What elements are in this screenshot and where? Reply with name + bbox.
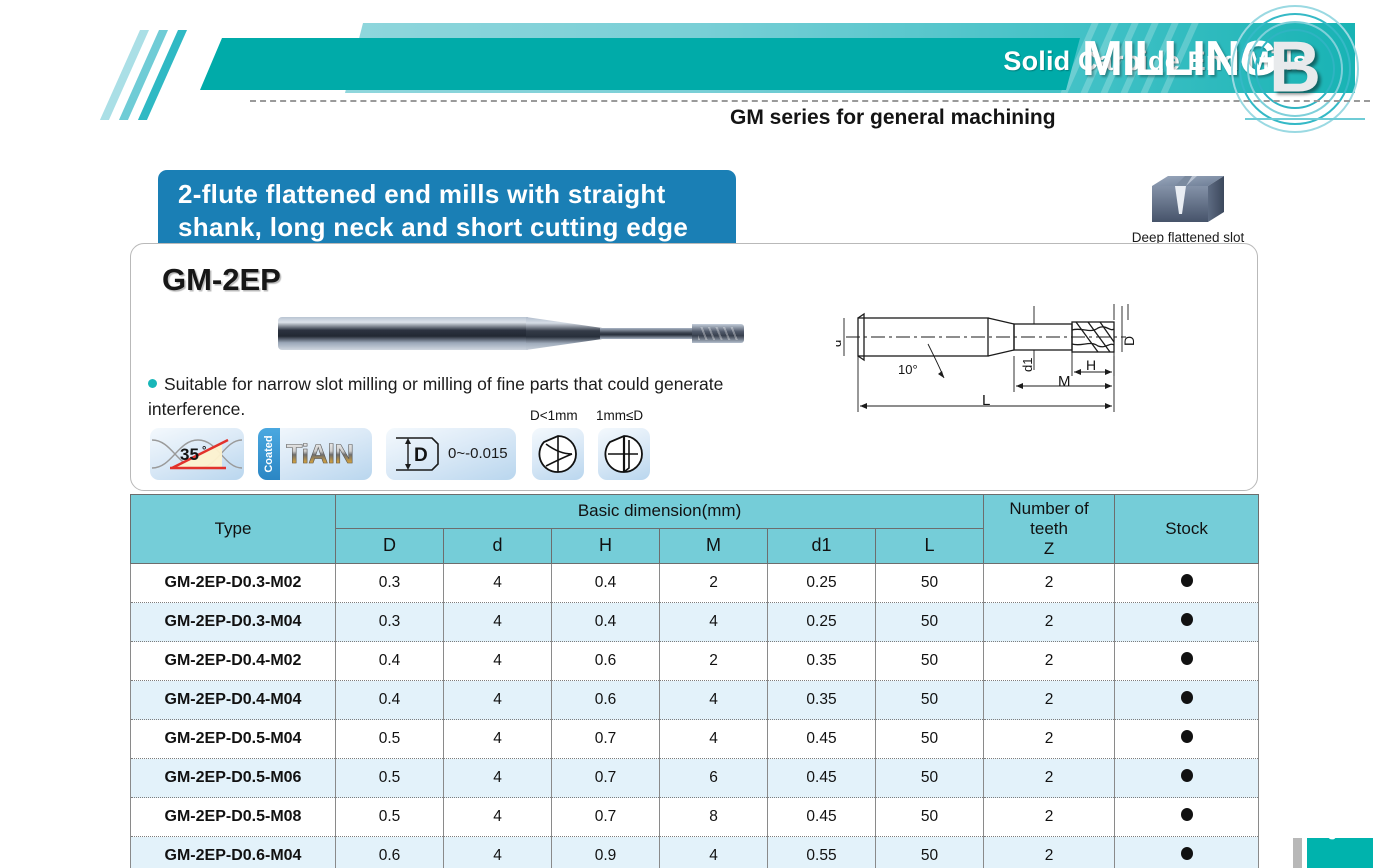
cell-L: 50 bbox=[876, 798, 984, 837]
cell-M: 2 bbox=[660, 564, 768, 603]
col-header-M: M bbox=[660, 528, 768, 563]
cell-type: GM-2EP-D0.5-M08 bbox=[131, 798, 336, 837]
coating-name: TiAlN bbox=[286, 436, 354, 472]
table-body: GM-2EP-D0.3-M020.340.420.25502GM-2EP-D0.… bbox=[131, 564, 1259, 868]
cell-L: 50 bbox=[876, 564, 984, 603]
header-subtitle-underline bbox=[1245, 118, 1365, 120]
cell-M: 4 bbox=[660, 720, 768, 759]
product-description: Suitable for narrow slot milling or mill… bbox=[148, 372, 748, 422]
cell-d1: 0.45 bbox=[768, 720, 876, 759]
series-code: GM-2EP bbox=[162, 262, 281, 298]
cell-stock bbox=[1115, 837, 1259, 868]
tolerance-value: 0~-0.015 bbox=[448, 445, 508, 462]
banner-main-band bbox=[200, 38, 1080, 90]
cell-H: 0.7 bbox=[552, 720, 660, 759]
cell-stock bbox=[1115, 681, 1259, 720]
table-row: GM-2EP-D0.4-M020.440.620.35502 bbox=[131, 642, 1259, 681]
cell-d1: 0.35 bbox=[768, 681, 876, 720]
cell-D: 0.3 bbox=[336, 603, 444, 642]
header-subtitle: GM series for general machining bbox=[730, 106, 1056, 130]
cell-teeth: 2 bbox=[984, 720, 1115, 759]
label-shank-dia: d bbox=[836, 340, 844, 347]
cross-section-large-label: 1mm≤D bbox=[596, 408, 643, 423]
col-header-teeth-line2: teeth bbox=[986, 519, 1112, 539]
col-header-d: d bbox=[444, 528, 552, 563]
technical-drawing: d 10° d1 M H D L bbox=[836, 286, 1236, 426]
cell-M: 6 bbox=[660, 759, 768, 798]
table-row: GM-2EP-D0.5-M080.540.780.45502 bbox=[131, 798, 1259, 837]
cell-teeth: 2 bbox=[984, 564, 1115, 603]
cell-d: 4 bbox=[444, 720, 552, 759]
cell-H: 0.9 bbox=[552, 837, 660, 868]
cell-d: 4 bbox=[444, 681, 552, 720]
cell-D: 0.5 bbox=[336, 720, 444, 759]
coated-tab: Coated bbox=[258, 428, 280, 480]
cell-teeth: 2 bbox=[984, 837, 1115, 868]
cell-stock bbox=[1115, 642, 1259, 681]
col-header-H: H bbox=[552, 528, 660, 563]
section-letter: B bbox=[1269, 32, 1321, 104]
cell-M: 8 bbox=[660, 798, 768, 837]
cell-type: GM-2EP-D0.3-M02 bbox=[131, 564, 336, 603]
cell-M: 4 bbox=[660, 603, 768, 642]
section-letter-badge: B bbox=[1228, 2, 1362, 136]
cell-type: GM-2EP-D0.5-M06 bbox=[131, 759, 336, 798]
cell-d: 4 bbox=[444, 603, 552, 642]
cell-D: 0.6 bbox=[336, 837, 444, 868]
col-header-L: L bbox=[876, 528, 984, 563]
label-taper-angle: 10° bbox=[898, 362, 918, 377]
cell-type: GM-2EP-D0.4-M04 bbox=[131, 681, 336, 720]
cell-H: 0.7 bbox=[552, 798, 660, 837]
product-photo-flute-head bbox=[692, 324, 744, 343]
cross-section-large-icon: 1mm≤D bbox=[598, 428, 650, 480]
deep-flattened-slot-icon bbox=[1128, 172, 1248, 235]
col-header-stock: Stock bbox=[1115, 495, 1259, 564]
col-header-teeth: Number of teeth Z bbox=[984, 495, 1115, 564]
label-neck-length: M bbox=[1058, 373, 1071, 390]
svg-text:°: ° bbox=[202, 445, 206, 457]
helix-angle-icon: 35 ° bbox=[150, 428, 244, 480]
coating-icon: Coated TiAlN bbox=[258, 428, 372, 480]
product-photo-taper bbox=[526, 317, 604, 350]
diameter-tolerance-icon: D 0~-0.015 bbox=[386, 428, 516, 480]
col-header-teeth-line1: Number of bbox=[986, 499, 1112, 519]
header-dotted-rule bbox=[250, 100, 1370, 102]
stock-available-icon bbox=[1181, 652, 1193, 665]
cell-type: GM-2EP-D0.6-M04 bbox=[131, 837, 336, 868]
stock-available-icon bbox=[1181, 808, 1193, 821]
product-headline-line1: 2-flute flattened end mills with straigh… bbox=[178, 178, 718, 211]
label-cut-dia: D bbox=[1121, 336, 1137, 346]
side-tab[interactable]: cal m bbox=[1307, 838, 1373, 868]
label-cutting-length: H bbox=[1086, 357, 1096, 373]
cell-H: 0.7 bbox=[552, 759, 660, 798]
cell-stock bbox=[1115, 564, 1259, 603]
stock-available-icon bbox=[1181, 613, 1193, 626]
cell-teeth: 2 bbox=[984, 642, 1115, 681]
table-row: GM-2EP-D0.6-M040.640.940.55502 bbox=[131, 837, 1259, 868]
table-row: GM-2EP-D0.4-M040.440.640.35502 bbox=[131, 681, 1259, 720]
catalog-page: Solid Carbide End Mills MILLING B GM ser… bbox=[0, 0, 1386, 868]
bullet-dot-icon bbox=[148, 379, 157, 388]
cell-M: 4 bbox=[660, 681, 768, 720]
cell-teeth: 2 bbox=[984, 798, 1115, 837]
product-photo-shank bbox=[278, 317, 528, 350]
cell-D: 0.4 bbox=[336, 642, 444, 681]
cell-teeth: 2 bbox=[984, 603, 1115, 642]
cell-type: GM-2EP-D0.3-M04 bbox=[131, 603, 336, 642]
cell-H: 0.4 bbox=[552, 603, 660, 642]
cell-D: 0.5 bbox=[336, 798, 444, 837]
cell-H: 0.6 bbox=[552, 681, 660, 720]
page-header-banner: Solid Carbide End Mills MILLING B GM ser… bbox=[0, 0, 1386, 150]
stock-available-icon bbox=[1181, 574, 1193, 587]
svg-text:D: D bbox=[414, 445, 428, 466]
cell-type: GM-2EP-D0.4-M02 bbox=[131, 642, 336, 681]
cell-d1: 0.25 bbox=[768, 603, 876, 642]
cell-d1: 0.45 bbox=[768, 798, 876, 837]
cell-D: 0.5 bbox=[336, 759, 444, 798]
cell-M: 4 bbox=[660, 837, 768, 868]
cell-D: 0.4 bbox=[336, 681, 444, 720]
cell-L: 50 bbox=[876, 603, 984, 642]
cell-d1: 0.25 bbox=[768, 564, 876, 603]
table-row: GM-2EP-D0.3-M040.340.440.25502 bbox=[131, 603, 1259, 642]
table-row: GM-2EP-D0.5-M040.540.740.45502 bbox=[131, 720, 1259, 759]
cell-H: 0.6 bbox=[552, 642, 660, 681]
stock-available-icon bbox=[1181, 730, 1193, 743]
cell-type: GM-2EP-D0.5-M04 bbox=[131, 720, 336, 759]
cross-section-small-icon: D<1mm bbox=[532, 428, 584, 480]
stock-available-icon bbox=[1181, 769, 1193, 782]
col-header-basic-dimension: Basic dimension(mm) bbox=[336, 495, 984, 529]
col-header-teeth-line3: Z bbox=[986, 539, 1112, 559]
cell-stock bbox=[1115, 798, 1259, 837]
product-photo bbox=[278, 304, 730, 362]
cell-teeth: 2 bbox=[984, 681, 1115, 720]
specification-table: Type Basic dimension(mm) Number of teeth… bbox=[130, 494, 1259, 868]
table-header-row-1: Type Basic dimension(mm) Number of teeth… bbox=[131, 495, 1259, 529]
label-neck-dia: d1 bbox=[1020, 358, 1035, 372]
cell-d: 4 bbox=[444, 798, 552, 837]
cell-d1: 0.45 bbox=[768, 759, 876, 798]
product-photo-neck bbox=[600, 328, 696, 339]
col-header-d1: d1 bbox=[768, 528, 876, 563]
cell-L: 50 bbox=[876, 720, 984, 759]
cell-L: 50 bbox=[876, 759, 984, 798]
side-tab-spine bbox=[1293, 838, 1302, 868]
cell-d1: 0.35 bbox=[768, 642, 876, 681]
table-row: GM-2EP-D0.3-M020.340.420.25502 bbox=[131, 564, 1259, 603]
svg-text:35: 35 bbox=[180, 445, 199, 464]
cell-d1: 0.55 bbox=[768, 837, 876, 868]
cell-L: 50 bbox=[876, 681, 984, 720]
col-header-D: D bbox=[336, 528, 444, 563]
col-header-type: Type bbox=[131, 495, 336, 564]
cell-L: 50 bbox=[876, 642, 984, 681]
cell-teeth: 2 bbox=[984, 759, 1115, 798]
cell-d: 4 bbox=[444, 837, 552, 868]
cell-d: 4 bbox=[444, 759, 552, 798]
cell-d: 4 bbox=[444, 642, 552, 681]
coated-tab-label: Coated bbox=[263, 435, 275, 472]
cell-L: 50 bbox=[876, 837, 984, 868]
table-header: Type Basic dimension(mm) Number of teeth… bbox=[131, 495, 1259, 564]
product-headline-line2: shank, long neck and short cutting edge bbox=[178, 211, 718, 244]
cell-d: 4 bbox=[444, 564, 552, 603]
stock-available-icon bbox=[1181, 847, 1193, 860]
cross-section-small-label: D<1mm bbox=[530, 408, 578, 423]
cell-stock bbox=[1115, 603, 1259, 642]
cell-stock bbox=[1115, 720, 1259, 759]
cell-D: 0.3 bbox=[336, 564, 444, 603]
table-row: GM-2EP-D0.5-M060.540.760.45502 bbox=[131, 759, 1259, 798]
cell-H: 0.4 bbox=[552, 564, 660, 603]
cell-M: 2 bbox=[660, 642, 768, 681]
label-overall-length: L bbox=[982, 392, 990, 409]
side-tab-label: cal m bbox=[1323, 802, 1340, 840]
product-headline: 2-flute flattened end mills with straigh… bbox=[158, 170, 736, 244]
stock-available-icon bbox=[1181, 691, 1193, 704]
cell-stock bbox=[1115, 759, 1259, 798]
